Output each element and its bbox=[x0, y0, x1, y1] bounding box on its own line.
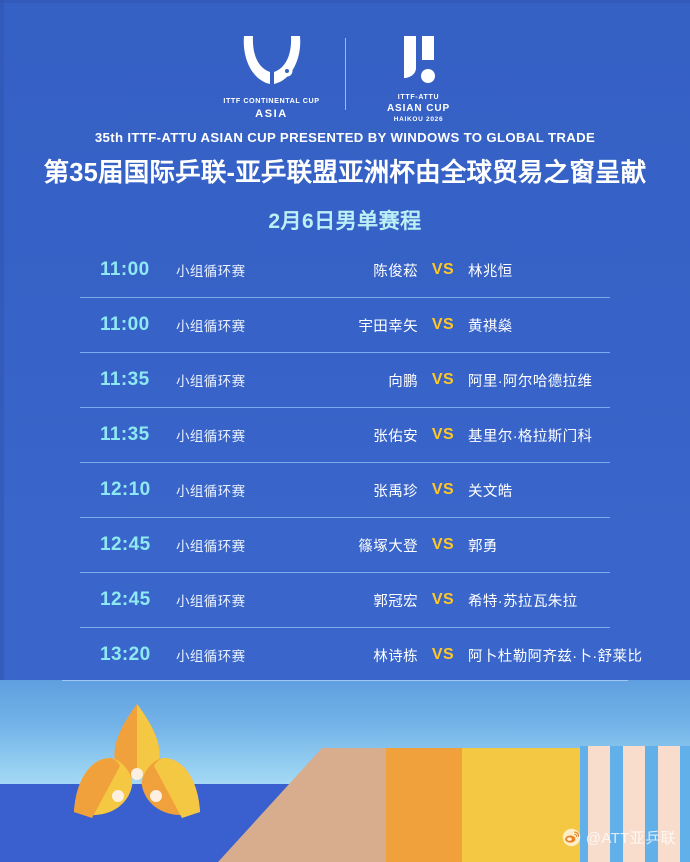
asian-cup-schedule-poster: ITTF CONTINENTAL CUP ASIA ITTF-ATTU ASIA… bbox=[0, 0, 690, 862]
match-stage: 小组循环赛 bbox=[176, 315, 306, 335]
match-schedule-list: 11:00 小组循环赛 陈俊菘 VS 林兆恒 11:00 小组循环赛 宇田幸矢 … bbox=[80, 243, 610, 683]
poster-top-edge bbox=[0, 0, 690, 3]
match-players: 张佑安 VS 基里尔·格拉斯门科 bbox=[306, 425, 610, 446]
match-stage: 小组循环赛 bbox=[176, 480, 306, 500]
match-vs-label: VS bbox=[418, 646, 468, 664]
match-time: 13:20 bbox=[80, 644, 176, 666]
match-player-2: 关文皓 bbox=[468, 480, 610, 501]
ittf-attu-asian-cup-logo: ITTF-ATTU ASIAN CUP HAIKOU 2026 bbox=[364, 34, 474, 125]
match-player-1: 张禹珍 bbox=[306, 480, 418, 501]
match-player-1: 林诗栋 bbox=[306, 645, 418, 666]
match-stage: 小组循环赛 bbox=[176, 260, 306, 280]
match-vs-label: VS bbox=[418, 261, 468, 279]
event-title-english: 35th ITTF-ATTU ASIAN CUP PRESENTED BY WI… bbox=[0, 130, 690, 145]
match-player-1: 郭冠宏 bbox=[306, 590, 418, 611]
match-player-1: 向鹏 bbox=[306, 370, 418, 391]
match-players: 郭冠宏 VS 希特·苏拉瓦朱拉 bbox=[306, 590, 610, 611]
match-vs-label: VS bbox=[418, 371, 468, 389]
artwork-top-hairline bbox=[62, 680, 628, 681]
match-vs-label: VS bbox=[418, 316, 468, 334]
event-title-chinese: 第35届国际乒联-亚乒联盟亚洲杯由全球贸易之窗呈献 bbox=[0, 152, 690, 189]
match-players: 张禹珍 VS 关文皓 bbox=[306, 480, 610, 501]
match-stage: 小组循环赛 bbox=[176, 370, 306, 390]
logo-right-line1: ITTF-ATTU bbox=[387, 93, 450, 102]
weibo-handle: @ATT亚乒联 bbox=[586, 827, 676, 848]
logo-divider bbox=[345, 38, 346, 110]
match-player-2: 希特·苏拉瓦朱拉 bbox=[468, 590, 610, 611]
schedule-subtitle: 2月6日男单赛程 bbox=[0, 205, 690, 235]
match-stage: 小组循环赛 bbox=[176, 645, 306, 665]
match-time: 11:00 bbox=[80, 314, 176, 336]
match-vs-label: VS bbox=[418, 536, 468, 554]
match-players: 篠塚大登 VS 郭勇 bbox=[306, 535, 610, 556]
match-player-2: 阿里·阿尔哈德拉维 bbox=[468, 370, 610, 391]
table-row: 11:35 小组循环赛 张佑安 VS 基里尔·格拉斯门科 bbox=[80, 408, 610, 463]
stripe-blue bbox=[680, 746, 690, 862]
match-player-2: 郭勇 bbox=[468, 535, 610, 556]
match-player-2: 阿卜杜勒阿齐兹·卜·舒莱比 bbox=[468, 645, 642, 666]
match-time: 11:00 bbox=[80, 259, 176, 281]
match-vs-label: VS bbox=[418, 481, 468, 499]
weibo-watermark: @ATT亚乒联 bbox=[562, 827, 676, 848]
table-row: 11:00 小组循环赛 宇田幸矢 VS 黄祺燊 bbox=[80, 298, 610, 353]
match-vs-label: VS bbox=[418, 426, 468, 444]
table-row: 11:00 小组循环赛 陈俊菘 VS 林兆恒 bbox=[80, 243, 610, 298]
match-player-2: 林兆恒 bbox=[468, 260, 610, 281]
match-player-1: 张佑安 bbox=[306, 425, 418, 446]
table-row: 12:45 小组循环赛 郭冠宏 VS 希特·苏拉瓦朱拉 bbox=[80, 573, 610, 628]
logo-row: ITTF CONTINENTAL CUP ASIA ITTF-ATTU ASIA… bbox=[0, 34, 690, 125]
ittf-attu-asian-cup-emblem-icon bbox=[396, 34, 442, 88]
match-player-2: 基里尔·格拉斯门科 bbox=[468, 425, 610, 446]
table-row: 12:10 小组循环赛 张禹珍 VS 关文皓 bbox=[80, 463, 610, 518]
logo-right-line3: HAIKOU 2026 bbox=[387, 116, 450, 125]
match-time: 11:35 bbox=[80, 369, 176, 391]
table-row: 11:35 小组循环赛 向鹏 VS 阿里·阿尔哈德拉维 bbox=[80, 353, 610, 408]
match-stage: 小组循环赛 bbox=[176, 425, 306, 445]
logo-left-line2: ASIA bbox=[223, 107, 319, 123]
match-vs-label: VS bbox=[418, 591, 468, 609]
ittf-attu-asian-cup-caption: ITTF-ATTU ASIAN CUP HAIKOU 2026 bbox=[387, 93, 450, 125]
ittf-continental-cup-caption: ITTF CONTINENTAL CUP ASIA bbox=[223, 96, 319, 123]
match-player-1: 篠塚大登 bbox=[306, 535, 418, 556]
match-players: 宇田幸矢 VS 黄祺燊 bbox=[306, 315, 610, 336]
ittf-continental-cup-emblem-icon bbox=[236, 34, 308, 90]
match-stage: 小组循环赛 bbox=[176, 535, 306, 555]
match-time: 11:35 bbox=[80, 424, 176, 446]
match-players: 陈俊菘 VS 林兆恒 bbox=[306, 260, 610, 281]
match-player-1: 陈俊菘 bbox=[306, 260, 418, 281]
poster-bottom-artwork: @ATT亚乒联 bbox=[0, 680, 690, 862]
match-players: 林诗栋 VS 阿卜杜勒阿齐兹·卜·舒莱比 bbox=[306, 645, 642, 666]
match-stage: 小组循环赛 bbox=[176, 590, 306, 610]
logo-right-line2: ASIAN CUP bbox=[387, 102, 450, 116]
bauhinia-flower-icon bbox=[62, 700, 212, 836]
match-players: 向鹏 VS 阿里·阿尔哈德拉维 bbox=[306, 370, 610, 391]
table-row: 12:45 小组循环赛 篠塚大登 VS 郭勇 bbox=[80, 518, 610, 573]
match-player-1: 宇田幸矢 bbox=[306, 315, 418, 336]
logo-left-line1: ITTF CONTINENTAL CUP bbox=[223, 96, 319, 105]
match-time: 12:10 bbox=[80, 479, 176, 501]
table-row: 13:20 小组循环赛 林诗栋 VS 阿卜杜勒阿齐兹·卜·舒莱比 bbox=[80, 628, 610, 683]
match-time: 12:45 bbox=[80, 589, 176, 611]
ittf-continental-cup-logo: ITTF CONTINENTAL CUP ASIA bbox=[217, 34, 327, 123]
weibo-icon bbox=[562, 828, 581, 847]
match-time: 12:45 bbox=[80, 534, 176, 556]
match-player-2: 黄祺燊 bbox=[468, 315, 610, 336]
